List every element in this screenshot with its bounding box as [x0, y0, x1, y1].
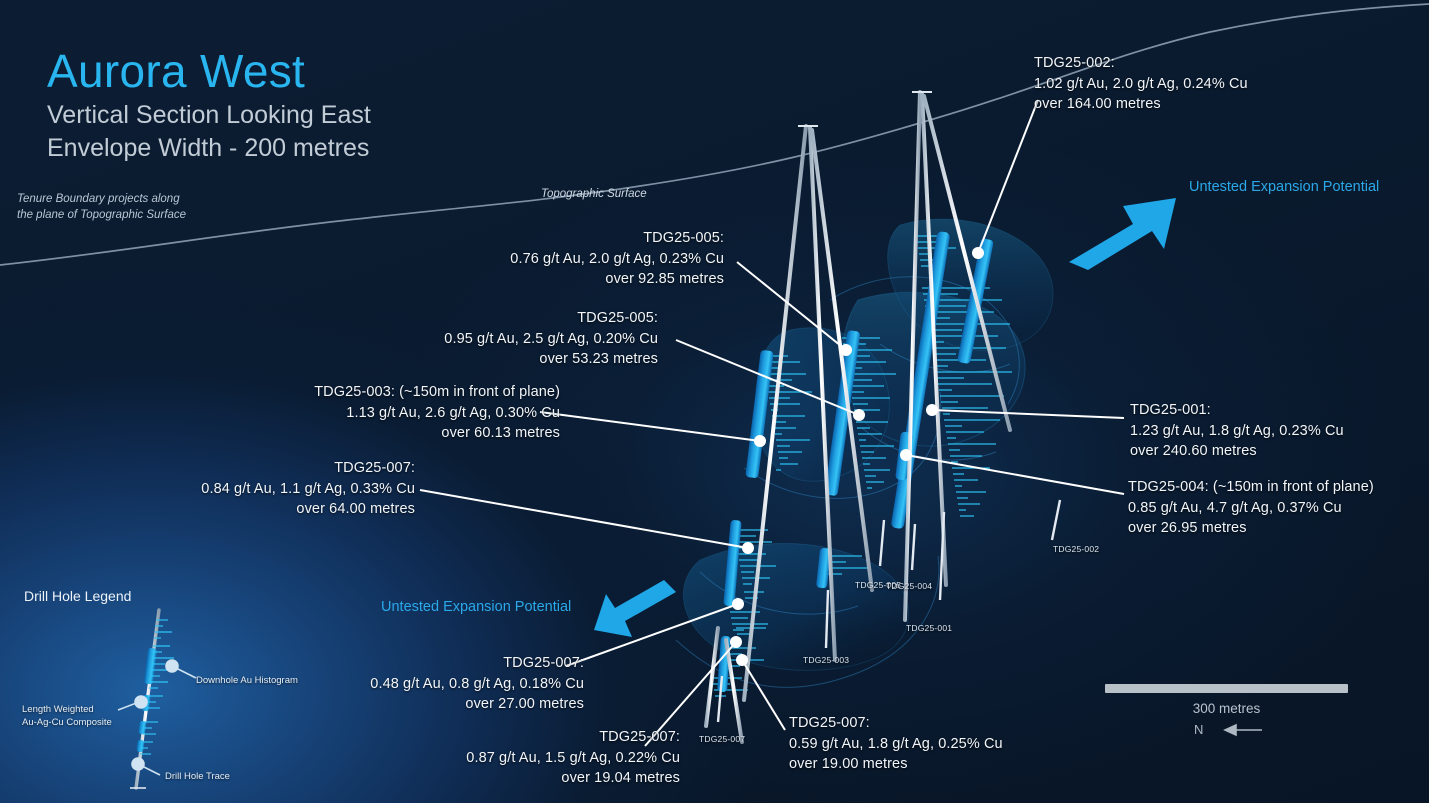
tdg25-007-mid-callout: TDG25-007: 0.48 g/t Au, 0.8 g/t Ag, 0.18…	[370, 653, 584, 715]
hole-id-tdg25-007: TDG25-007	[699, 734, 745, 744]
tdg25-007-right-callout: TDG25-007: 0.59 g/t Au, 1.8 g/t Ag, 0.25…	[789, 713, 1003, 775]
legend-label-composite: Length Weighted Au-Ag-Cu Composite	[22, 703, 117, 730]
north-label: N	[1105, 722, 1348, 737]
hole-id-tdg25-002: TDG25-002	[1053, 544, 1099, 554]
callout-interval: over 26.95 metres	[1128, 518, 1374, 539]
page-subtitle: Vertical Section Looking East Envelope W…	[47, 99, 371, 165]
callout-grades: 0.84 g/t Au, 1.1 g/t Ag, 0.33% Cu	[201, 479, 415, 500]
legend-title: Drill Hole Legend	[24, 588, 131, 604]
page-title: Aurora West	[47, 44, 305, 98]
north-letter: N	[1194, 722, 1203, 737]
callout-grades: 0.76 g/t Au, 2.0 g/t Ag, 0.23% Cu	[510, 249, 724, 270]
callout-interval: over 60.13 metres	[314, 423, 560, 444]
callout-interval: over 19.00 metres	[789, 754, 1003, 775]
expansion-arrow-left	[594, 580, 676, 637]
hole-id-tdg25-001: TDG25-001	[906, 623, 952, 633]
callout-hole: TDG25-005:	[444, 308, 658, 329]
tdg25-005-upper-callout: TDG25-005: 0.76 g/t Au, 2.0 g/t Ag, 0.23…	[510, 228, 724, 290]
legend-composite-line-1: Length Weighted	[22, 703, 117, 716]
callout-hole: TDG25-007:	[789, 713, 1003, 734]
tenure-note-line-1: Tenure Boundary projects along	[17, 192, 186, 208]
legend-label-histogram: Downhole Au Histogram	[196, 674, 298, 687]
callout-hole: TDG25-007:	[201, 458, 415, 479]
tenure-note-line-2: the plane of Topographic Surface	[17, 208, 186, 224]
tdg25-005-lower-callout: TDG25-005: 0.95 g/t Au, 2.5 g/t Ag, 0.20…	[444, 308, 658, 370]
tdg25-007-upper-callout: TDG25-007: 0.84 g/t Au, 1.1 g/t Ag, 0.33…	[201, 458, 415, 520]
callout-hole: TDG25-001:	[1130, 400, 1344, 421]
scale-distance-label: 300 metres	[1105, 701, 1348, 716]
callout-grades: 0.85 g/t Au, 4.7 g/t Ag, 0.37% Cu	[1128, 498, 1374, 519]
callout-interval: over 240.60 metres	[1130, 441, 1344, 462]
untested-expansion-label-right: Untested Expansion Potential	[1189, 179, 1379, 195]
topographic-surface-label: Topographic Surface	[541, 188, 647, 200]
hole-id-tdg25-004: TDG25-004	[886, 581, 932, 591]
callout-hole: TDG25-007:	[370, 653, 584, 674]
callout-interval: over 92.85 metres	[510, 269, 724, 290]
hole-id-tdg25-003: TDG25-003	[803, 655, 849, 665]
callout-grades: 0.59 g/t Au, 1.8 g/t Ag, 0.25% Cu	[789, 734, 1003, 755]
callout-interval: over 19.04 metres	[466, 768, 680, 789]
callout-grades: 1.13 g/t Au, 2.6 g/t Ag, 0.30% Cu	[314, 403, 560, 424]
callout-hole: TDG25-005:	[510, 228, 724, 249]
callout-interval: over 164.00 metres	[1034, 94, 1248, 115]
collar-markers	[798, 92, 932, 126]
callout-grades: 0.48 g/t Au, 0.8 g/t Ag, 0.18% Cu	[370, 674, 584, 695]
subtitle-line-1: Vertical Section Looking East	[47, 99, 371, 132]
callout-interval: over 64.00 metres	[201, 499, 415, 520]
tdg25-001-callout: TDG25-001: 1.23 g/t Au, 1.8 g/t Ag, 0.23…	[1130, 400, 1344, 462]
expansion-arrow-right	[1069, 198, 1176, 270]
callout-hole: TDG25-003: (~150m in front of plane)	[314, 382, 560, 403]
tdg25-003-callout: TDG25-003: (~150m in front of plane) 1.1…	[314, 382, 560, 444]
subtitle-line-2: Envelope Width - 200 metres	[47, 132, 371, 165]
tdg25-002-callout: TDG25-002: 1.02 g/t Au, 2.0 g/t Ag, 0.24…	[1034, 53, 1248, 115]
callout-interval: over 53.23 metres	[444, 349, 658, 370]
tdg25-004-callout: TDG25-004: (~150m in front of plane) 0.8…	[1128, 477, 1374, 539]
callout-grades: 0.95 g/t Au, 2.5 g/t Ag, 0.20% Cu	[444, 329, 658, 350]
callout-grades: 1.23 g/t Au, 1.8 g/t Ag, 0.23% Cu	[1130, 421, 1344, 442]
callout-grades: 1.02 g/t Au, 2.0 g/t Ag, 0.24% Cu	[1034, 74, 1248, 95]
legend-label-trace: Drill Hole Trace	[165, 770, 230, 783]
callout-hole: TDG25-007:	[466, 727, 680, 748]
callout-hole: TDG25-002:	[1034, 53, 1248, 74]
callout-hole: TDG25-004: (~150m in front of plane)	[1128, 477, 1374, 498]
legend-composite-line-2: Au-Ag-Cu Composite	[22, 716, 117, 729]
tenure-boundary-note: Tenure Boundary projects along the plane…	[17, 192, 186, 224]
callout-interval: over 27.00 metres	[370, 694, 584, 715]
callout-grades: 0.87 g/t Au, 1.5 g/t Ag, 0.22% Cu	[466, 748, 680, 769]
legend-graphic	[118, 610, 196, 788]
scale-bar	[1105, 684, 1348, 693]
tdg25-007-lower-callout: TDG25-007: 0.87 g/t Au, 1.5 g/t Ag, 0.22…	[466, 727, 680, 789]
section-diagram-canvas: Aurora West Vertical Section Looking Eas…	[0, 0, 1429, 803]
untested-expansion-label-left: Untested Expansion Potential	[381, 599, 571, 615]
